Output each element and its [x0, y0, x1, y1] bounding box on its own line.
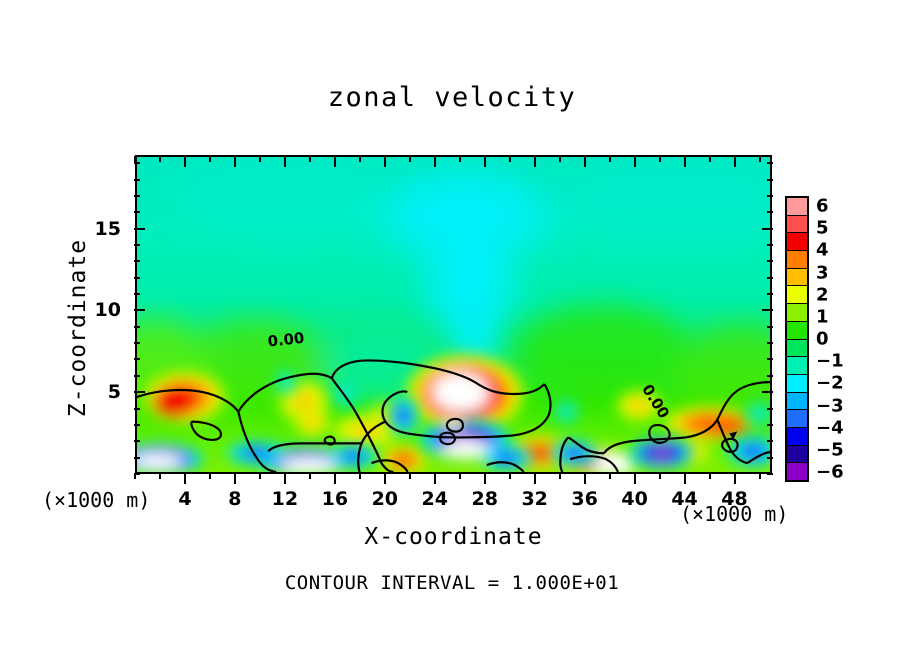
x-tick-major [684, 473, 686, 484]
y-tick-right [762, 228, 773, 230]
y-tick-minor [134, 375, 140, 377]
x-tick-top [209, 156, 211, 162]
x-tick-minor [709, 473, 711, 479]
x-tick-label: 4 [178, 488, 191, 510]
y-tick-right [767, 408, 773, 410]
y-tick-right [767, 326, 773, 328]
y-tick-right [767, 260, 773, 262]
colorbar-tick-label: −4 [816, 417, 844, 438]
y-tick-minor [134, 277, 140, 279]
x-tick-minor [259, 473, 261, 479]
x-tick-major [434, 473, 436, 484]
x-tick-top [509, 156, 511, 162]
x-tick-label: 8 [228, 488, 241, 510]
y-tick-right [767, 244, 773, 246]
colorbar-tick-label: 2 [816, 284, 829, 305]
x-tick-label: 20 [372, 488, 398, 510]
x-tick-major [284, 473, 286, 484]
x-tick-top [434, 156, 436, 167]
y-tick-minor [134, 457, 140, 459]
y-tick-right [762, 309, 773, 311]
colorbar-band [787, 446, 807, 464]
x-axis-unit-label: (×1000 m) [680, 502, 788, 526]
y-tick-label: 10 [87, 299, 121, 321]
x-tick-top [534, 156, 536, 167]
x-tick-top [309, 156, 311, 162]
colorbar-band [787, 198, 807, 216]
y-tick-right [767, 342, 773, 344]
x-tick-top [234, 156, 236, 167]
colorbar-tick-label: 1 [816, 306, 829, 327]
x-tick-top [634, 156, 636, 167]
y-tick-right [767, 293, 773, 295]
colorbar-tick-label: −3 [816, 395, 844, 416]
x-tick-top [684, 156, 686, 167]
x-tick-major [634, 473, 636, 484]
x-tick-top [384, 156, 386, 167]
x-tick-top [584, 156, 586, 167]
x-tick-label: 28 [471, 488, 497, 510]
x-tick-top [259, 156, 261, 162]
x-tick-minor [159, 473, 161, 479]
y-tick-right [767, 211, 773, 213]
y-tick-minor [134, 195, 140, 197]
y-tick-minor [134, 440, 140, 442]
x-tick-major [484, 473, 486, 484]
contour-interval-caption: CONTOUR INTERVAL = 1.000E+01 [0, 572, 904, 594]
colorbar-band [787, 375, 807, 393]
x-tick-minor [409, 473, 411, 479]
y-axis-unit-label: (×1000 m) [42, 488, 150, 512]
x-tick-major [384, 473, 386, 484]
contour-label-0: 0.00 [267, 329, 305, 351]
x-tick-major [734, 473, 736, 484]
y-tick-right [767, 162, 773, 164]
colorbar [785, 196, 809, 482]
colorbar-tick-label: 3 [816, 262, 829, 283]
x-axis-title: X-coordinate [135, 524, 772, 550]
x-tick-top [609, 156, 611, 162]
x-tick-label: 32 [521, 488, 547, 510]
y-tick-minor [134, 342, 140, 344]
y-tick-major [134, 391, 145, 393]
y-tick-minor [134, 244, 140, 246]
colorbar-tick-label: 4 [816, 240, 829, 261]
colorbar-band [787, 251, 807, 269]
x-tick-minor [359, 473, 361, 479]
velocity-field: 0.00 0.00 [137, 157, 770, 472]
y-tick-minor [134, 260, 140, 262]
y-tick-right [767, 440, 773, 442]
y-tick-major [134, 309, 145, 311]
x-tick-top [284, 156, 286, 167]
x-tick-top [159, 156, 161, 162]
colorbar-band [787, 216, 807, 234]
y-tick-minor [134, 162, 140, 164]
x-tick-top [759, 156, 761, 162]
colorbar-band [787, 286, 807, 304]
plot-area: 0.00 0.00 [135, 155, 772, 474]
colorbar-band [787, 304, 807, 322]
x-tick-label: 40 [621, 488, 647, 510]
colorbar-tick-label: 5 [816, 218, 829, 239]
colorbar-band [787, 428, 807, 446]
colorbar-band [787, 322, 807, 340]
x-tick-major [184, 473, 186, 484]
x-tick-minor [459, 473, 461, 479]
x-tick-top [659, 156, 661, 162]
x-tick-top [459, 156, 461, 162]
x-tick-major [584, 473, 586, 484]
y-tick-right [767, 457, 773, 459]
y-tick-minor [134, 179, 140, 181]
y-tick-right [767, 375, 773, 377]
y-tick-right [767, 424, 773, 426]
page-title: zonal velocity [0, 82, 904, 113]
y-tick-minor [134, 293, 140, 295]
colorbar-tick-label: 0 [816, 329, 829, 350]
y-tick-minor [134, 424, 140, 426]
y-tick-label: 15 [87, 218, 121, 240]
colorbar-band [787, 340, 807, 358]
x-tick-minor [309, 473, 311, 479]
colorbar-tick-label: −6 [816, 462, 844, 483]
x-tick-top [484, 156, 486, 167]
colorbar-band [787, 233, 807, 251]
x-tick-label: 36 [571, 488, 597, 510]
y-tick-minor [134, 326, 140, 328]
y-tick-minor [134, 473, 140, 475]
x-tick-top [134, 156, 136, 162]
x-tick-major [234, 473, 236, 484]
x-tick-minor [559, 473, 561, 479]
x-tick-top [334, 156, 336, 167]
y-axis-title: Z-coordinate [65, 198, 91, 458]
colorbar-tick-label: −5 [816, 439, 844, 460]
x-tick-minor [659, 473, 661, 479]
y-tick-major [134, 228, 145, 230]
x-tick-top [559, 156, 561, 162]
x-tick-minor [609, 473, 611, 479]
y-tick-right [767, 179, 773, 181]
colorbar-tick-label: −2 [816, 373, 844, 394]
x-tick-label: 24 [422, 488, 448, 510]
y-tick-minor [134, 211, 140, 213]
y-tick-right [767, 195, 773, 197]
y-tick-label: 5 [87, 381, 121, 403]
contour-plot-figure: zonal velocity [0, 0, 904, 654]
y-tick-right [767, 473, 773, 475]
y-tick-minor [134, 358, 140, 360]
y-tick-right [762, 391, 773, 393]
y-tick-minor [134, 408, 140, 410]
x-tick-label: 12 [272, 488, 298, 510]
x-tick-top [409, 156, 411, 162]
y-tick-right [767, 358, 773, 360]
colorbar-band [787, 393, 807, 411]
colorbar-band [787, 410, 807, 428]
x-tick-minor [209, 473, 211, 479]
y-tick-right [767, 277, 773, 279]
x-tick-top [709, 156, 711, 162]
x-tick-minor [509, 473, 511, 479]
x-tick-minor [759, 473, 761, 479]
x-tick-major [334, 473, 336, 484]
colorbar-band [787, 463, 807, 480]
x-tick-top [184, 156, 186, 167]
x-tick-label: 16 [322, 488, 348, 510]
colorbar-tick-label: 6 [816, 196, 829, 217]
colorbar-band [787, 357, 807, 375]
x-tick-top [734, 156, 736, 167]
x-tick-top [359, 156, 361, 162]
colorbar-band [787, 269, 807, 287]
x-tick-major [534, 473, 536, 484]
colorbar-tick-label: −1 [816, 351, 844, 372]
